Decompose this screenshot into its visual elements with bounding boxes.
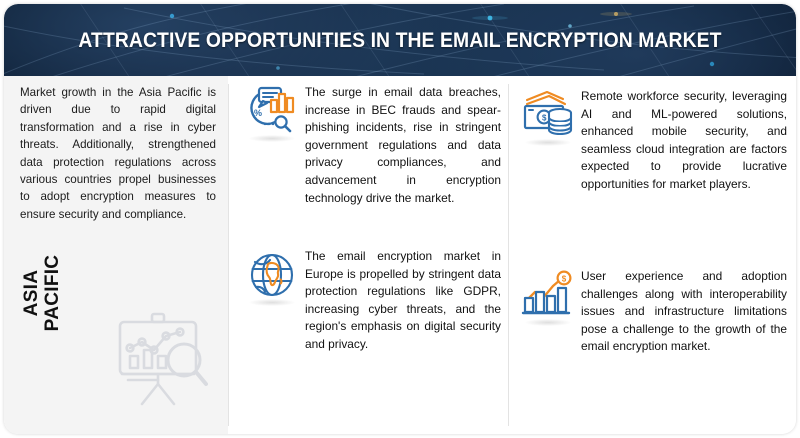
page-title: ATTRACTIVE OPPORTUNITIES IN THE EMAIL EN… — [44, 4, 757, 76]
market-analysis-chart-icon: % — [243, 82, 301, 140]
left-column: Market growth in the Asia Pacific is dri… — [4, 76, 228, 434]
insight-block-challenges: $ User experience and adoption challenge… — [519, 266, 787, 356]
infographic-card: ATTRACTIVE OPPORTUNITIES IN THE EMAIL EN… — [4, 4, 796, 434]
region-label: ASIA PACIFIC — [21, 233, 63, 353]
insight-block-opportunities: $ — [519, 86, 787, 194]
money-banknote-coins-icon: $ — [519, 86, 577, 144]
icon-shadow — [249, 135, 295, 142]
svg-text:%: % — [254, 108, 262, 118]
insight-text-challenges: User experience and adoption challenges … — [581, 266, 787, 356]
header-banner: ATTRACTIVE OPPORTUNITIES IN THE EMAIL EN… — [4, 4, 796, 76]
presentation-chart-magnifier-icon — [108, 308, 220, 418]
insight-block-europe: The email encryption market in Europe is… — [243, 246, 501, 354]
svg-text:$: $ — [542, 114, 547, 123]
insight-text-opportunities: Remote workforce security, leveraging AI… — [581, 86, 787, 194]
right-column: $ — [509, 76, 796, 434]
insight-text-europe: The email encryption market in Europe is… — [305, 246, 501, 354]
content-area: Market growth in the Asia Pacific is dri… — [4, 76, 796, 434]
icon-shadow — [249, 299, 295, 306]
insight-block-market-drivers: % — [243, 82, 501, 207]
middle-column: % — [229, 76, 508, 434]
icon-shadow — [525, 319, 571, 326]
svg-text:$: $ — [562, 274, 567, 283]
insight-text-market-drivers: The surge in email data breaches, increa… — [305, 82, 501, 207]
bar-chart-growth-dollar-icon: $ — [519, 266, 577, 324]
infographic-page: ATTRACTIVE OPPORTUNITIES IN THE EMAIL EN… — [0, 0, 800, 438]
asia-pacific-paragraph: Market growth in the Asia Pacific is dri… — [20, 84, 216, 223]
icon-shadow — [525, 139, 571, 146]
globe-icon — [243, 246, 301, 304]
